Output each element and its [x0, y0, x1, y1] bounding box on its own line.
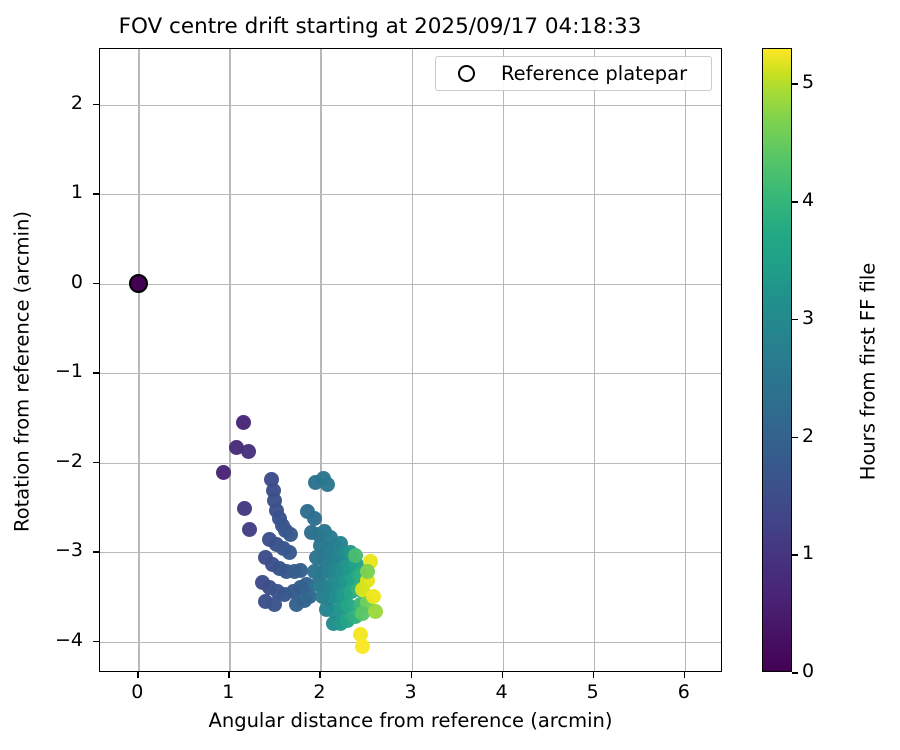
colorbar	[762, 48, 792, 672]
scatter-point	[241, 444, 256, 459]
y-axis-tick	[93, 641, 99, 643]
scatter-point	[267, 597, 282, 612]
scatter-point	[366, 589, 381, 604]
colorbar-tick-label: 0	[802, 660, 814, 682]
scatter-point	[236, 415, 251, 430]
reference-platepar-marker-icon	[458, 65, 475, 82]
colorbar-tick-label: 3	[802, 307, 814, 329]
colorbar-tick-label: 4	[802, 189, 814, 211]
scatter-point	[320, 477, 335, 492]
colorbar-tick-label: 5	[802, 71, 814, 93]
y-axis-tick-label: −4	[19, 629, 83, 651]
gridline-vertical	[503, 49, 504, 671]
page-title: FOV centre drift starting at 2025/09/17 …	[0, 14, 760, 39]
colorbar-tick	[792, 83, 798, 85]
y-axis-tick	[93, 283, 99, 285]
y-axis-tick	[93, 462, 99, 464]
colorbar-tick	[792, 437, 798, 439]
y-axis-tick	[93, 372, 99, 374]
y-axis-tick	[93, 551, 99, 553]
legend-item-label: Reference platepar	[501, 62, 687, 85]
x-axis-label: Angular distance from reference (arcmin)	[99, 709, 722, 732]
x-axis-tick	[502, 672, 504, 678]
scatter-point	[242, 522, 257, 537]
gridline-horizontal	[100, 105, 721, 106]
y-axis-tick	[93, 193, 99, 195]
scatter-point	[282, 545, 297, 560]
colorbar-label: Hours from first FF file	[857, 60, 880, 684]
x-axis-tick	[319, 672, 321, 678]
y-axis-tick	[93, 104, 99, 106]
gridline-vertical	[229, 49, 230, 671]
y-axis-tick-label: −3	[19, 539, 83, 561]
gridline-horizontal	[100, 284, 721, 285]
scatter-point	[368, 604, 383, 619]
colorbar-tick	[792, 672, 798, 674]
figure-canvas: FOV centre drift starting at 2025/09/17 …	[0, 0, 900, 750]
y-axis-tick-label: 1	[19, 181, 83, 203]
colorbar-tick	[792, 201, 798, 203]
x-axis-tick-label: 4	[472, 681, 532, 703]
x-axis-tick-label: 0	[107, 681, 167, 703]
colorbar-tick	[792, 319, 798, 321]
colorbar-tick-label: 2	[802, 425, 814, 447]
x-axis-tick-label: 5	[563, 681, 623, 703]
gridline-horizontal	[100, 642, 721, 643]
gridline-horizontal	[100, 194, 721, 195]
x-axis-tick-label: 6	[654, 681, 714, 703]
plot-area	[99, 48, 722, 672]
gridline-vertical	[138, 49, 139, 671]
scatter-point	[355, 639, 370, 654]
scatter-point	[283, 527, 298, 542]
y-axis-tick-label: 2	[19, 92, 83, 114]
x-axis-tick-label: 1	[198, 681, 258, 703]
x-axis-tick	[228, 672, 230, 678]
gridline-vertical	[685, 49, 686, 671]
x-axis-tick-label: 3	[381, 681, 441, 703]
scatter-point	[307, 511, 322, 526]
reference-platepar-point	[129, 274, 148, 293]
colorbar-tick	[792, 554, 798, 556]
gridline-vertical	[594, 49, 595, 671]
y-axis-tick-label: 0	[19, 271, 83, 293]
x-axis-tick-label: 2	[289, 681, 349, 703]
gridline-vertical	[412, 49, 413, 671]
scatter-point	[237, 501, 252, 516]
x-axis-tick	[684, 672, 686, 678]
y-axis-tick-label: −1	[19, 360, 83, 382]
scatter-point	[348, 548, 363, 563]
y-axis-tick-label: −2	[19, 450, 83, 472]
gridline-horizontal	[100, 373, 721, 374]
gridline-horizontal	[100, 463, 721, 464]
x-axis-tick	[593, 672, 595, 678]
x-axis-tick	[411, 672, 413, 678]
gridline-horizontal	[100, 552, 721, 553]
scatter-point	[293, 563, 308, 578]
legend: Reference platepar	[435, 56, 712, 91]
x-axis-tick	[137, 672, 139, 678]
colorbar-tick-label: 1	[802, 542, 814, 564]
